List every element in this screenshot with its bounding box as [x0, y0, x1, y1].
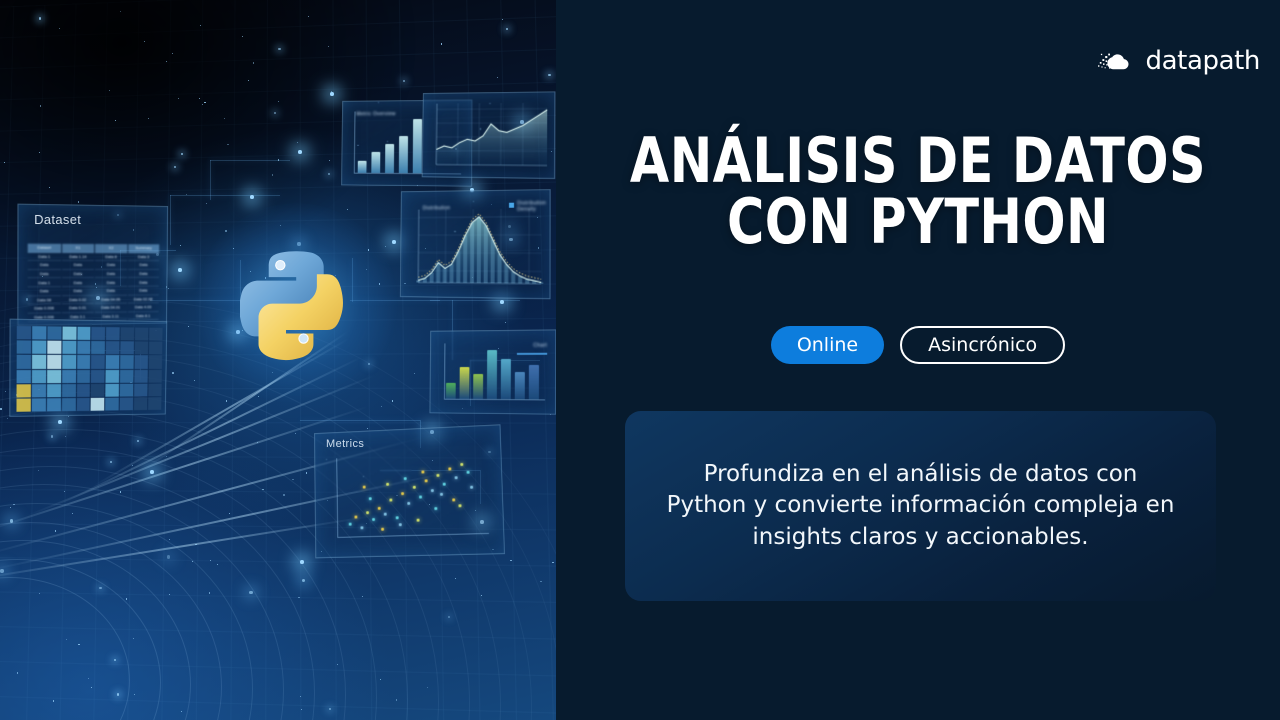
- dataset-header-cell: Summary: [128, 244, 159, 253]
- scatter-point: [354, 515, 357, 518]
- scatter-point: [363, 486, 366, 489]
- heatmap-cell: [16, 398, 30, 412]
- dataset-cell: Data: [62, 278, 94, 287]
- heatmap-cell: [77, 355, 91, 368]
- dataset-cell: Data: [28, 270, 61, 279]
- heatmap-panel: [9, 319, 167, 417]
- scatter-point: [470, 486, 473, 489]
- scatter-point: [417, 519, 420, 522]
- brand-logo: datapath: [1097, 46, 1260, 76]
- dataset-header-cell: X1: [62, 244, 94, 253]
- heatmap-cell: [17, 340, 31, 354]
- heatmap-cell: [62, 398, 76, 411]
- dataset-cell: Data: [95, 261, 127, 270]
- heatmap-cell: [120, 397, 133, 410]
- scatter-point: [360, 527, 363, 530]
- scatter-point: [369, 497, 372, 500]
- heatmap-cell: [135, 342, 148, 355]
- scatter-point: [401, 492, 404, 495]
- heatmap-cell: [17, 326, 31, 340]
- dataset-cell: Data 8.1: [127, 312, 158, 321]
- heatmap-cell: [120, 355, 133, 368]
- colored-bar: [529, 365, 539, 400]
- description-box: Profundiza en el análisis de datos con P…: [625, 411, 1216, 601]
- dataset-panel-title: Dataset: [34, 212, 81, 227]
- heatmap-cell: [106, 355, 120, 368]
- heatmap-cell: [92, 341, 106, 354]
- heatmap-cell: [120, 369, 133, 382]
- heatmap-cell: [17, 384, 31, 397]
- heatmap-cell: [106, 369, 120, 382]
- scatter-point: [425, 480, 428, 483]
- dataset-cell: Data: [62, 261, 94, 270]
- bar: [385, 144, 394, 173]
- distribution-panel-label: Distribution: [423, 205, 451, 211]
- heatmap-cell: [32, 398, 46, 411]
- dataset-cell: Data: [128, 261, 159, 270]
- heatmap-cell: [17, 370, 31, 383]
- heatmap-cell: [91, 398, 105, 411]
- scatter-point: [366, 511, 369, 514]
- heatmap-cell: [149, 356, 162, 369]
- distribution-panel: Distribution Density Distribution: [400, 189, 551, 299]
- cbar-legend-swatch: [517, 353, 547, 355]
- badge-online[interactable]: Online: [771, 326, 884, 364]
- heatmap-cell: [77, 369, 91, 382]
- dataset-cell: Data: [28, 261, 61, 270]
- heatmap-cell: [106, 383, 120, 396]
- dataset-cell: Data 1.14: [62, 252, 94, 261]
- dataset-cell: Data 8: [95, 253, 127, 262]
- dataset-table: DatasetX1X2SummaryData 1Data 1.14Data 8D…: [28, 244, 161, 322]
- scatter-point: [436, 473, 439, 476]
- dataset-header-cell: Dataset: [28, 244, 61, 253]
- dataset-row: DataDataDataData: [28, 261, 160, 270]
- bar-series: [358, 115, 422, 173]
- scatter-point: [443, 483, 446, 486]
- heatmap-cell: [121, 341, 135, 354]
- dataset-cell: Data 04.05: [95, 295, 127, 304]
- heatmap-cell: [134, 383, 147, 396]
- dataset-cell: Data 1: [28, 252, 61, 261]
- bar: [413, 119, 422, 173]
- heatmap-cell: [106, 397, 120, 410]
- scatter-point: [455, 477, 458, 480]
- colored-bar: [487, 350, 497, 399]
- scatter-point: [386, 483, 389, 486]
- dataset-cell: Data 3: [128, 253, 159, 262]
- colored-bar: [501, 359, 511, 399]
- scatter-point: [378, 507, 381, 510]
- bar-y-axis: [354, 112, 356, 173]
- heatmap-cell: [148, 383, 161, 396]
- heatmap-cell: [148, 397, 161, 410]
- dataset-row: Data 1Data 1.14Data 8Data 3: [28, 252, 160, 261]
- dataset-cell: Data: [95, 287, 127, 296]
- scatter-point: [381, 528, 384, 531]
- hero-image: DatasetX1X2SummaryData 1Data 1.14Data 8D…: [0, 0, 556, 720]
- trend-line-panel: [422, 91, 556, 179]
- dataset-cell: Data 08: [28, 296, 61, 305]
- heatmap-cell: [149, 328, 162, 341]
- title-line-1: ANÁLISIS DE DATOS: [621, 130, 1215, 191]
- scatter-point: [434, 507, 437, 510]
- colored-bar-panel: Chart: [429, 329, 556, 414]
- bar: [371, 152, 380, 173]
- dataset-cell: Data: [95, 270, 127, 279]
- dataset-cell: Data 02.08: [127, 295, 158, 304]
- bar: [399, 136, 408, 173]
- dataset-cell: Data: [28, 287, 61, 296]
- heatmap-cell: [76, 398, 90, 411]
- dataset-cell: Data: [128, 270, 159, 279]
- heatmap-cell: [77, 341, 91, 354]
- content-panel: datapath ANÁLISIS DE DATOS CON PYTHON On…: [556, 0, 1280, 720]
- scatter-point: [458, 504, 461, 507]
- heatmap-cell: [17, 355, 31, 368]
- brand-logo-text: datapath: [1146, 46, 1260, 76]
- dataset-cell: Data: [128, 287, 159, 296]
- bar: [358, 161, 367, 173]
- colored-bar: [515, 372, 525, 399]
- distribution-legend: Distribution Density: [517, 200, 548, 212]
- dataset-header-cell: X2: [95, 244, 127, 253]
- heatmap-cell: [91, 355, 105, 368]
- scatter-point: [419, 495, 422, 498]
- python-logo-icon: [240, 243, 352, 361]
- dataset-header-row: DatasetX1X2Summary: [28, 244, 160, 253]
- scatter-point: [396, 516, 399, 519]
- cbar-legend: Chart: [533, 343, 547, 349]
- heatmap-cell: [120, 383, 133, 396]
- dataset-cell: Data: [62, 287, 94, 296]
- heatmap-cell: [91, 384, 105, 397]
- scatter-point: [440, 493, 443, 496]
- heatmap-cell: [135, 328, 148, 341]
- heatmap-cell: [47, 355, 61, 368]
- scatter-point: [407, 502, 410, 505]
- heatmap-cell: [47, 326, 61, 340]
- heatmap-cell: [135, 356, 148, 369]
- scatter-point: [389, 498, 392, 501]
- heatmap-cell: [62, 384, 76, 397]
- heatmap-cell: [62, 327, 76, 340]
- dataset-cell: Data: [128, 278, 159, 287]
- heatmap-cell: [32, 355, 46, 368]
- dataset-cell: Data: [95, 278, 127, 287]
- heatmap-cell: [134, 397, 147, 410]
- heatmap-cell: [32, 384, 46, 397]
- heatmap-cell: [77, 327, 91, 340]
- scatter-point: [448, 467, 451, 470]
- heatmap-cell: [149, 369, 162, 382]
- scatter-point: [413, 486, 416, 489]
- heatmap-cell: [77, 384, 91, 397]
- badge-group: Online Asincrónico: [556, 326, 1280, 364]
- trend-area-chart: [423, 92, 556, 180]
- slide-root: DatasetX1X2SummaryData 1Data 1.14Data 8D…: [0, 0, 1280, 720]
- heatmap-cell: [149, 342, 162, 355]
- scatter-point: [421, 470, 424, 473]
- dataset-cell: Data 1: [28, 278, 61, 287]
- heatmap-cell: [47, 398, 61, 411]
- heatmap-cell: [32, 341, 46, 355]
- dataset-cell: Data 0.02: [61, 295, 93, 304]
- scatter-point: [384, 512, 387, 515]
- dataset-cell: Data: [62, 270, 94, 279]
- scatter-point: [452, 498, 455, 501]
- scatter-point: [431, 489, 434, 492]
- scatter-point: [460, 463, 463, 466]
- scatter-point: [467, 470, 470, 473]
- cloud-pixel-icon: [1097, 47, 1139, 75]
- scatter-point: [404, 477, 407, 480]
- title-line-2: CON PYTHON: [621, 191, 1215, 252]
- badge-asincronico[interactable]: Asincrónico: [900, 326, 1065, 364]
- metrics-panel-title: Metrics: [326, 438, 364, 450]
- heatmap-cell: [91, 369, 105, 382]
- heatmap-cell: [92, 327, 106, 340]
- page-title: ANÁLISIS DE DATOS CON PYTHON: [621, 130, 1215, 253]
- heatmap-cell: [62, 341, 76, 354]
- heatmap-cell: [47, 370, 61, 383]
- heatmap-cell: [32, 370, 46, 383]
- heatmap-cell: [47, 384, 61, 397]
- heatmap-cell: [121, 327, 135, 340]
- heatmap-grid: [16, 326, 162, 412]
- scatter-point: [349, 523, 352, 526]
- scatter-point: [399, 523, 402, 526]
- colored-bar: [459, 367, 469, 399]
- colored-bar: [446, 383, 456, 399]
- heatmap-cell: [62, 355, 76, 368]
- heatmap-cell: [32, 326, 46, 340]
- heatmap-cell: [134, 369, 147, 382]
- colored-bar: [473, 374, 483, 399]
- scatter-point: [372, 518, 375, 521]
- description-text: Profundiza en el análisis de datos con P…: [661, 459, 1181, 553]
- heatmap-cell: [106, 327, 120, 340]
- heatmap-cell: [106, 341, 120, 354]
- heatmap-cell: [47, 341, 61, 354]
- bar-panel-label: Metric Overview: [356, 111, 395, 117]
- heatmap-cell: [62, 370, 76, 383]
- metrics-scatter-points: [336, 452, 489, 537]
